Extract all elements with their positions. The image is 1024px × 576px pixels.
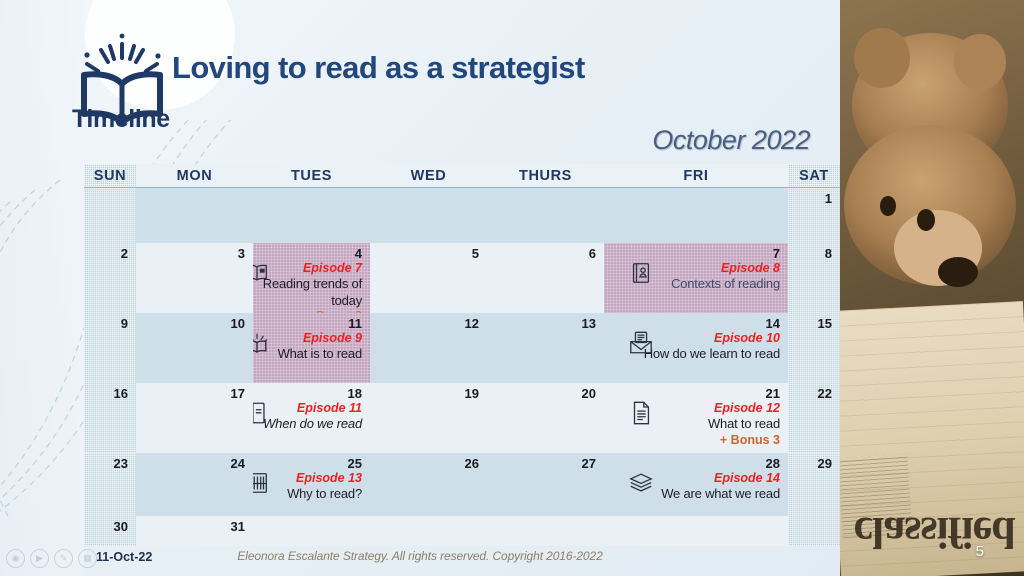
day-number: 3: [142, 247, 245, 262]
calendar-day-empty: [487, 188, 604, 243]
calendar-day-empty: [253, 516, 370, 546]
calendar-day-13: 13: [487, 313, 604, 383]
bookshelf-icon: [253, 470, 270, 496]
day-number: 11: [259, 317, 362, 332]
calendar-event: Episode 13Why to read?: [259, 471, 362, 503]
calendar-week-row: 232425Episode 13Why to read?262728Episod…: [84, 453, 840, 516]
day-number: 24: [142, 457, 245, 472]
slide-canvas: Timeline Loving to read as a strategist …: [0, 0, 1024, 576]
calendar-week-row: 234Episode 7Reading trends of today+ Bon…: [84, 243, 840, 313]
event-description: When do we read: [259, 416, 362, 432]
calendar-day-empty: [370, 188, 487, 243]
section-label: Timeline: [72, 105, 170, 134]
calendar-day-18[interactable]: 18Episode 11When do we read: [253, 383, 370, 453]
calendar-day-header-wed: WED: [370, 164, 487, 188]
calendar-day-20: 20: [487, 383, 604, 453]
calendar-day-empty: [370, 516, 487, 546]
bear-illustration: [840, 10, 1024, 340]
calendar-day-11[interactable]: 11Episode 9What is to read: [253, 313, 370, 383]
calendar-day-header-mon: MON: [136, 164, 253, 188]
calendar-day-28[interactable]: 28Episode 14We are what we read: [604, 453, 788, 516]
day-number: 5: [376, 247, 479, 262]
closed-book-icon: [253, 400, 270, 426]
calendar-day-empty: [604, 188, 788, 243]
calendar-day-17: 17: [136, 383, 253, 453]
calendar-day-9: 9: [84, 313, 136, 383]
page-title: Loving to read as a strategist: [172, 50, 585, 86]
document-page-icon: [628, 400, 654, 426]
day-number: 13: [493, 317, 596, 332]
calendar-day-27: 27: [487, 453, 604, 516]
calendar-day-6: 6: [487, 243, 604, 313]
calendar-day-16: 16: [84, 383, 136, 453]
calendar-header-row: SUNMONTUESWEDTHURSFRISAT: [84, 164, 840, 188]
calendar-event: Episode 9What is to read: [259, 331, 362, 363]
event-episode-label: Episode 11: [259, 401, 362, 417]
calendar-day-8: 8: [788, 243, 840, 313]
calendar-body: 1234Episode 7Reading trends of today+ Bo…: [84, 188, 840, 546]
event-episode-label: Episode 9: [259, 331, 362, 347]
calendar-day-empty: [788, 516, 840, 546]
calendar-day-30: 30: [84, 516, 136, 546]
teddy-bear-photo: classified 5: [840, 0, 1024, 576]
calendar-day-14[interactable]: 14Episode 10How do we learn to read: [604, 313, 788, 383]
calendar-day-1: 1: [788, 188, 840, 243]
calendar-day-header-fri: FRI: [604, 164, 788, 188]
calendar-day-empty: [84, 188, 136, 243]
day-number: 18: [259, 387, 362, 402]
day-number: 10: [142, 317, 245, 332]
calendar-week-row: 91011Episode 9What is to read121314Episo…: [84, 313, 840, 383]
day-number: 30: [90, 520, 128, 535]
envelope-letter-icon: [628, 330, 654, 356]
event-description: What is to read: [259, 346, 362, 362]
day-number: 8: [794, 247, 832, 262]
day-number: 31: [142, 520, 245, 535]
open-book-bookmark-icon: [253, 260, 270, 286]
calendar-week-row: 1: [84, 188, 840, 243]
day-number: 12: [376, 317, 479, 332]
calendar-week-row: 3031: [84, 516, 840, 546]
event-description: Why to read?: [259, 486, 362, 502]
day-number: 20: [493, 387, 596, 402]
calendar-day-22: 22: [788, 383, 840, 453]
day-number: 19: [376, 387, 479, 402]
day-number: 1: [794, 192, 832, 207]
calendar-day-3: 3: [136, 243, 253, 313]
calendar-day-empty: [487, 516, 604, 546]
day-number: 4: [259, 247, 362, 262]
day-number: 6: [493, 247, 596, 262]
id-book-icon: [628, 260, 654, 286]
event-episode-label: Episode 7: [259, 261, 362, 277]
calendar-day-empty: [604, 516, 788, 546]
calendar-day-24: 24: [136, 453, 253, 516]
calendar-day-26: 26: [370, 453, 487, 516]
calendar: SUNMONTUESWEDTHURSFRISAT 1234Episode 7Re…: [84, 164, 840, 546]
calendar-day-15: 15: [788, 313, 840, 383]
day-number: 29: [794, 457, 832, 472]
day-number: 26: [376, 457, 479, 472]
calendar-day-header-sun: SUN: [84, 164, 136, 188]
calendar-week-row: 161718Episode 11When do we read192021Epi…: [84, 383, 840, 453]
day-number: 23: [90, 457, 128, 472]
calendar-day-12: 12: [370, 313, 487, 383]
calendar-day-5: 5: [370, 243, 487, 313]
day-number: 22: [794, 387, 832, 402]
day-number: 17: [142, 387, 245, 402]
book-stack-icon: [628, 470, 654, 496]
calendar-day-7[interactable]: 7Episode 8Contexts of reading: [604, 243, 788, 313]
calendar-day-2: 2: [84, 243, 136, 313]
month-label: October 2022: [652, 125, 810, 156]
calendar-day-21[interactable]: 21Episode 12What to read+ Bonus 3: [604, 383, 788, 453]
calendar-day-header-thurs: THURS: [487, 164, 604, 188]
calendar-day-10: 10: [136, 313, 253, 383]
event-episode-label: Episode 13: [259, 471, 362, 487]
calendar-event: Episode 11When do we read: [259, 401, 362, 433]
open-book-sparkle-icon: [253, 330, 270, 356]
event-bonus-label: + Bonus 3: [610, 433, 780, 449]
calendar-event: Episode 7Reading trends of today+ Bonus …: [259, 261, 362, 313]
day-number: 15: [794, 317, 832, 332]
calendar-day-23: 23: [84, 453, 136, 516]
classified-text: classified: [842, 507, 1024, 558]
day-number: 16: [90, 387, 128, 402]
footer-copyright: Eleonora Escalante Strategy. All rights …: [0, 549, 840, 563]
event-description: Reading trends of today: [259, 276, 362, 308]
calendar-day-31: 31: [136, 516, 253, 546]
calendar-day-empty: [253, 188, 370, 243]
day-number: 25: [259, 457, 362, 472]
calendar-day-header-tues: TUES: [253, 164, 370, 188]
page-number: 5: [976, 543, 984, 560]
day-number: 27: [493, 457, 596, 472]
calendar-day-29: 29: [788, 453, 840, 516]
calendar-day-empty: [136, 188, 253, 243]
day-number: 2: [90, 247, 128, 262]
calendar-day-25[interactable]: 25Episode 13Why to read?: [253, 453, 370, 516]
calendar-day-4[interactable]: 4Episode 7Reading trends of today+ Bonus…: [253, 243, 370, 313]
calendar-day-19: 19: [370, 383, 487, 453]
day-number: 9: [90, 317, 128, 332]
calendar-day-header-sat: SAT: [788, 164, 840, 188]
